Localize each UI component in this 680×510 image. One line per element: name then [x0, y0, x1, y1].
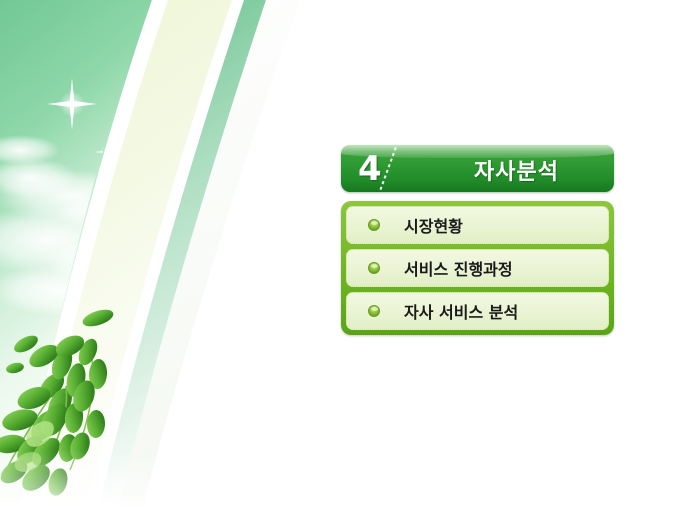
curve-divider-white-1 — [18, 0, 168, 510]
curve-band-white-outer — [118, 0, 300, 510]
leaf-cluster — [0, 306, 115, 498]
agenda-item-label: 서비스 진행과정 — [404, 256, 513, 280]
sky-field — [0, 0, 152, 510]
agenda-item[interactable]: 시장현황 — [346, 206, 609, 244]
leaf-icon — [81, 306, 116, 329]
curve-band-cream — [32, 0, 232, 510]
bottom-fade-overlay — [0, 450, 160, 510]
agenda-item-label: 자사 서비스 분석 — [404, 299, 518, 323]
agenda-item-label: 시장현황 — [404, 213, 463, 237]
leaf-branch — [0, 369, 77, 488]
leaf-icon — [5, 361, 25, 375]
leaf-icon — [11, 332, 40, 356]
agenda-items-container: 시장현황 서비스 진행과정 자사 서비스 분석 — [341, 201, 614, 335]
leaf-branch — [53, 331, 108, 470]
agenda-section-number: 4 — [358, 148, 382, 190]
green-sphere-bullet-icon — [368, 262, 380, 274]
presentation-slide: 4 자사분석 시장현황 서비스 진행과정 자사 서비스 분석 — [0, 0, 680, 510]
agenda-block: 4 자사분석 시장현황 서비스 진행과정 자사 서비스 분석 — [341, 145, 614, 335]
green-sphere-bullet-icon — [368, 305, 380, 317]
curve-divider-white-2 — [86, 0, 244, 510]
green-sphere-bullet-icon — [368, 219, 380, 231]
agenda-item[interactable]: 자사 서비스 분석 — [346, 292, 609, 330]
agenda-item[interactable]: 서비스 진행과정 — [346, 249, 609, 287]
agenda-title: 자사분석 — [427, 154, 606, 186]
sparkle-icon — [47, 78, 97, 130]
sparkle-small-icon — [94, 139, 120, 165]
leaf-branch — [17, 340, 88, 498]
curve-band-green — [98, 0, 266, 510]
agenda-header[interactable]: 4 자사분석 — [341, 145, 614, 192]
